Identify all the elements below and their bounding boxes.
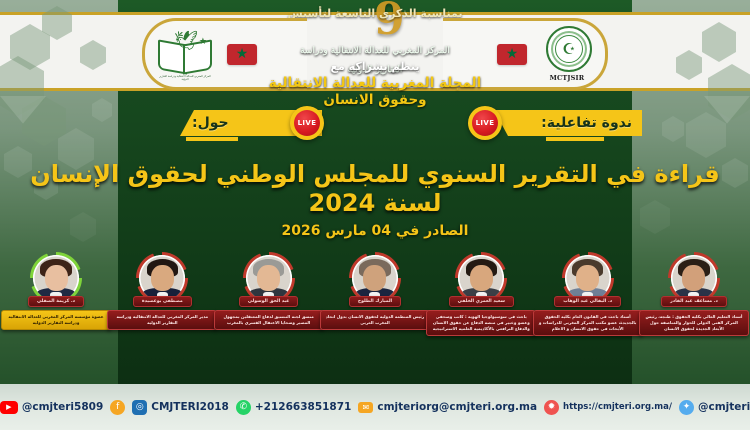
instagram-icon[interactable]: ◎	[132, 400, 147, 415]
live-label: LIVE	[476, 119, 495, 127]
contact-text[interactable]: CMJTERI2018	[151, 401, 229, 413]
youtube-icon[interactable]: ▶	[0, 401, 18, 414]
speaker-name-tag: د. مساعف عبد القادر	[661, 296, 727, 307]
speaker-name: عبد الحق الوسولي	[248, 299, 290, 305]
live-badge-left: LIVE	[290, 106, 324, 140]
partnership-lead: ينظم بشراكة مع	[0, 60, 750, 73]
contact-text[interactable]: https://cmjteri.org.ma/	[563, 402, 672, 412]
speaker-bio: عضوة مؤسسة المركز المغربي للعدالة الانتق…	[6, 314, 106, 326]
ribbon-row: ندوة تفاعلية: حول: LIVE LIVE	[0, 108, 750, 142]
speaker-card: د. كريمة الصقليعضوة مؤسسة المركز المغربي…	[4, 252, 108, 330]
avatar	[246, 255, 292, 301]
website-icon[interactable]: ✹	[544, 400, 559, 415]
partner-name-line2: وحقوق الانسان	[0, 92, 750, 109]
page-subtitle: الصادر في 04 مارس 2026	[0, 223, 750, 239]
contact-item[interactable]: ✹https://cmjteri.org.ma/	[544, 400, 672, 415]
contact-item[interactable]: f	[110, 400, 125, 415]
live-label: LIVE	[298, 119, 317, 127]
speaker-name-tag: المبارك الطلوح	[349, 296, 401, 307]
speaker-card: سعيد العمري الخلفيباحث في سوسيولوجيا اله…	[429, 252, 533, 336]
speaker-name: د. مساعف عبد القادر	[670, 299, 718, 305]
speaker-name-tag: سعيد العمري الخلفي	[449, 296, 514, 307]
topic-label: حول:	[192, 115, 229, 131]
speaker-card: عبد الحق الوسوليمنسق لجنة التنسيق لدفاع …	[217, 252, 321, 330]
speaker-name: المبارك الطلوح	[358, 299, 392, 305]
contact-text[interactable]: @cmjteri5809	[22, 401, 103, 413]
speaker-bio: منسق لجنة التنسيق لدفاع المعتقلين بمجهول…	[219, 314, 319, 326]
ribbon-dash	[546, 137, 604, 141]
speaker-card: د. البقالي عبد الوهابأستاذ باحث في القان…	[536, 252, 640, 336]
contact-text[interactable]: cmjteriorg@cmjteri.org.ma	[377, 401, 537, 413]
contact-text[interactable]: @cmjteri	[698, 401, 750, 413]
contact-item[interactable]: ◎CMJTERI2018	[132, 400, 229, 415]
avatar	[458, 255, 504, 301]
speaker-bio-tag: عضوة مؤسسة المركز المغربي للعدالة الانتق…	[1, 310, 111, 330]
avatar	[565, 255, 611, 301]
avatar	[352, 255, 398, 301]
speaker-name-tag: مصطفى بوعصيدة	[133, 296, 192, 307]
page-title: قراءة في التقرير السنوي للمجلس الوطني لح…	[0, 160, 750, 218]
contact-item[interactable]: ✉cmjteriorg@cmjteri.org.ma	[358, 401, 537, 413]
twitter-icon[interactable]: ✦	[679, 400, 694, 415]
contact-item[interactable]: ✆+212663851871	[236, 400, 351, 415]
speaker-bio-tag: مدير المركز المغربي للعدالة الانتقالية و…	[107, 310, 217, 330]
speaker-name-tag: د. البقالي عبد الوهاب	[554, 296, 621, 307]
speaker-name: د. كريمة الصقلي	[37, 299, 75, 305]
speaker-name: مصطفى بوعصيدة	[142, 299, 183, 305]
whatsapp-icon[interactable]: ✆	[236, 400, 251, 415]
email-icon[interactable]: ✉	[358, 402, 373, 413]
speaker-bio-tag: أستاذ التعليم العالي بكلية الحقوق : طنجة…	[639, 310, 749, 336]
speaker-card: المبارك الطلوحرئيس المنظمة الدولية لحقوق…	[323, 252, 427, 330]
speaker-bio: أستاذ باحث في القانون العام بكلية الحقوق…	[538, 314, 638, 332]
speaker-name: سعيد العمري الخلفي	[458, 299, 505, 305]
speaker-name-tag: د. كريمة الصقلي	[28, 296, 84, 307]
ribbon-dash	[186, 137, 238, 141]
speaker-bio-tag: أستاذ باحث في القانون العام بكلية الحقوق…	[533, 310, 643, 336]
contact-item[interactable]: ✦@cmjteri	[679, 400, 750, 415]
event-poster: 9 بمناسبة الذكرى التاسعة لتأسيس 🕊 ★ المر…	[0, 0, 750, 430]
speaker-name-tag: عبد الحق الوسولي	[239, 296, 299, 307]
speaker-bio: أستاذ التعليم العالي بكلية الحقوق : طنجة…	[644, 314, 744, 332]
title-block: قراءة في التقرير السنوي للمجلس الوطني لح…	[0, 160, 750, 239]
speaker-bio: رئيس المنظمة الدولية لحقوق الانسان بدول …	[325, 314, 425, 326]
contact-text[interactable]: +212663851871	[255, 401, 351, 413]
contact-footer: ▶@cmjteri5809f◎CMJTERI2018✆+212663851871…	[0, 384, 750, 430]
anniversary-strip: بمناسبة الذكرى التاسعة لتأسيس	[0, 0, 750, 26]
avatar	[671, 255, 717, 301]
partnership-block: ينظم بشراكة مع المجلة المغربية للعدالة ا…	[0, 60, 750, 109]
facebook-icon[interactable]: f	[110, 400, 125, 415]
speaker-bio: مدير المركز المغربي للعدالة الانتقالية و…	[112, 314, 212, 326]
avatar	[139, 255, 185, 301]
seminar-type-ribbon: ندوة تفاعلية:	[494, 110, 642, 136]
speaker-name: د. البقالي عبد الوهاب	[563, 299, 612, 305]
anniversary-text: بمناسبة الذكرى التاسعة لتأسيس	[288, 7, 463, 20]
speaker-bio-tag: رئيس المنظمة الدولية لحقوق الانسان بدول …	[320, 310, 430, 330]
speaker-bio-tag: منسق لجنة التنسيق لدفاع المعتقلين بمجهول…	[214, 310, 324, 330]
avatar	[33, 255, 79, 301]
speaker-card: مصطفى بوعصيدةمدير المركز المغربي للعدالة…	[110, 252, 214, 330]
speaker-bio: باحث في سوسيولوجيا الهوية : كاتب وصحفي و…	[431, 314, 531, 332]
partner-name-line1: المجلة المغربية للعدالة الانتقالية	[0, 75, 750, 92]
live-badge-right: LIVE	[468, 106, 502, 140]
speakers-row: د. كريمة الصقليعضوة مؤسسة المركز المغربي…	[4, 252, 746, 376]
contact-item[interactable]: ▶@cmjteri5809	[0, 401, 103, 414]
speaker-card: د. مساعف عبد القادرأستاذ التعليم العالي …	[642, 252, 746, 336]
seminar-type-label: ندوة تفاعلية:	[541, 115, 632, 131]
speaker-bio-tag: باحث في سوسيولوجيا الهوية : كاتب وصحفي و…	[426, 310, 536, 336]
